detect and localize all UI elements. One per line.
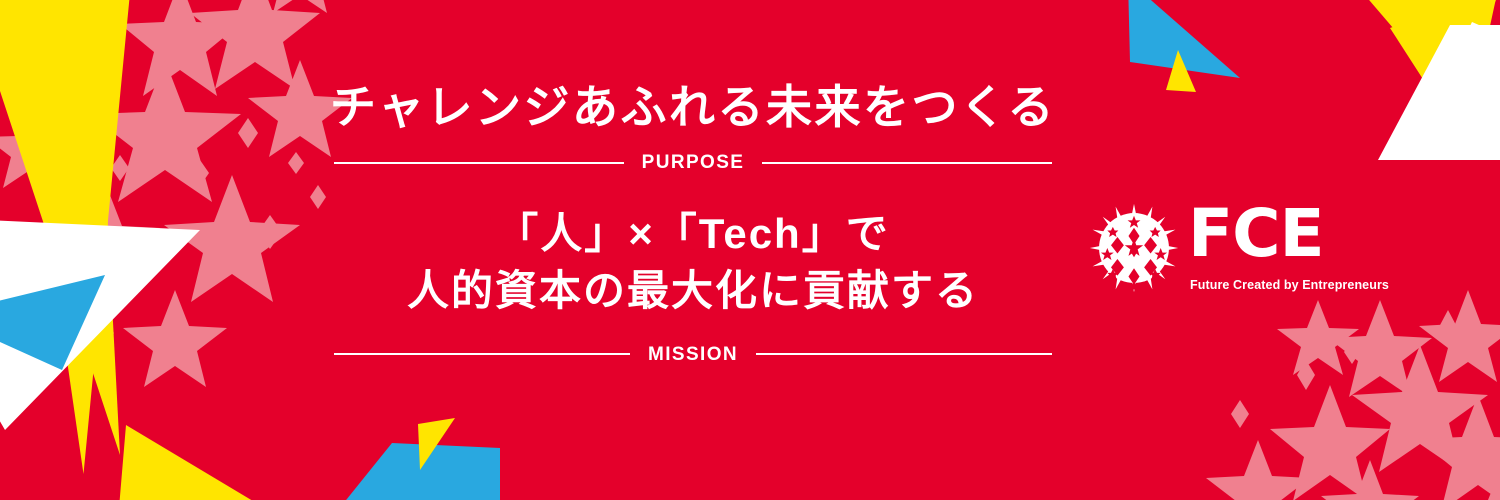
mission-label: MISSION [630,345,756,364]
divider-rule-right [762,162,1052,164]
divider-rule-left [334,162,624,164]
divider-rule-left [334,353,630,355]
fce-tagline: Future Created by Entrepreneurs [1190,279,1389,292]
fce-starburst-mark-icon [1088,202,1180,294]
purpose-label: PURPOSE [624,153,763,172]
purpose-headline: チャレンジあふれる未来をつくる [330,83,1056,131]
divider-rule-right [756,353,1052,355]
purpose-divider: PURPOSE [334,153,1052,172]
fce-wordmark: FCE [1188,201,1324,267]
mission-divider: MISSION [334,345,1052,364]
purpose-mission-text-block: チャレンジあふれる未来をつくる PURPOSE 「人」×「Tech」で 人的資本… [330,0,1056,500]
mission-line-2: 人的資本の最大化に貢献する [407,263,979,319]
mission-statement: 「人」×「Tech」で 人的資本の最大化に貢献する [407,206,979,319]
fce-logo: FCE Future Created by Entrepreneurs [1088,200,1368,300]
fce-purpose-mission-banner: チャレンジあふれる未来をつくる PURPOSE 「人」×「Tech」で 人的資本… [0,0,1500,500]
mission-line-1: 「人」×「Tech」で [407,206,979,262]
